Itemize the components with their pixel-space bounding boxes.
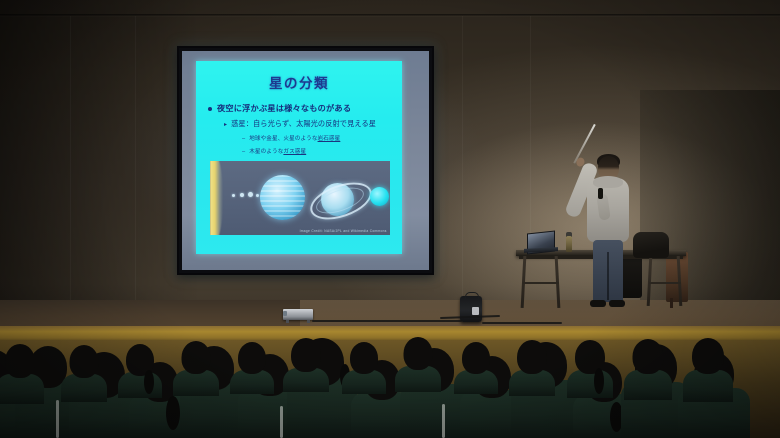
wall-panel-seam xyxy=(530,16,531,256)
projector-light-spill: 星の分類 夜空に浮かぶ星は様々なものがある ▸惑星：自ら光らず、太陽光の反射で見… xyxy=(182,51,429,270)
bullet-triangle-icon: ▸ xyxy=(224,121,227,128)
student-uniform xyxy=(0,374,44,404)
student-head xyxy=(633,339,664,374)
student-head xyxy=(350,342,378,374)
cable-reel-socket-icon xyxy=(472,307,479,315)
floor-cable xyxy=(482,322,562,324)
slide-detail-1-term: 岩石惑星 xyxy=(318,136,341,142)
projector-leg xyxy=(286,320,289,323)
slide-detail-2-term: ガス惑星 xyxy=(283,149,306,155)
bullet-dash-icon: – xyxy=(242,136,245,142)
student-uniform xyxy=(624,370,672,400)
slide-detail-2-pre: 木星のような xyxy=(249,149,283,155)
wall-shadow-left xyxy=(0,0,200,330)
slide-detail-1: –地球や金星、火星のような岩石惑星 xyxy=(242,134,340,142)
slide-bullet-main-text: 夜空に浮かぶ星は様々なものがある xyxy=(217,104,351,113)
presenter-shoe xyxy=(590,300,606,307)
uranus-icon xyxy=(370,187,389,206)
microphone xyxy=(598,188,603,199)
planet-comparison-image: Image Credit: NASA/JPL and Wikimedia Com… xyxy=(210,161,390,235)
student-ponytail xyxy=(144,370,154,394)
mars-icon xyxy=(256,194,259,197)
cable-reel-handle xyxy=(465,292,479,299)
jupiter-icon xyxy=(260,175,305,220)
backpack xyxy=(633,232,669,258)
presenter-leg-split xyxy=(607,252,609,300)
student-ponytail xyxy=(166,396,180,430)
slide-detail-2: –木星のようなガス惑星 xyxy=(242,147,306,155)
slide-bullet-main: 夜空に浮かぶ星は様々なものがある xyxy=(208,102,351,114)
chair-leg xyxy=(670,298,673,308)
student-head xyxy=(291,338,321,372)
slide-bullet-sub: ▸惑星：自ら光らず、太陽光の反射で見える星 xyxy=(224,119,376,129)
venus-icon xyxy=(240,193,244,197)
saturn-icon xyxy=(310,171,368,225)
wall-panel-seam xyxy=(70,16,71,316)
student-head xyxy=(517,340,547,374)
cable-reel-drum xyxy=(460,296,482,322)
student-head xyxy=(692,338,724,374)
wall-panel-seam xyxy=(135,16,136,316)
student-ponytail xyxy=(594,368,604,394)
table-brace xyxy=(523,282,559,284)
projection-screen: 星の分類 夜空に浮かぶ星は様々なものがある ▸惑星：自ら光らず、太陽光の反射で見… xyxy=(177,46,434,275)
uniform-stripe xyxy=(56,400,59,438)
uniform-stripe xyxy=(280,406,283,438)
student-head xyxy=(404,337,433,370)
slide-detail-1-pre: 地球や金星、火星のような xyxy=(249,136,317,142)
student-head xyxy=(5,344,35,378)
slide-bullet-sub-text: 惑星：自ら光らず、太陽光の反射で見える星 xyxy=(231,119,376,128)
student-head xyxy=(462,342,490,374)
wall-panel-seam xyxy=(462,16,463,306)
student-uniform xyxy=(61,374,107,402)
mercury-icon xyxy=(232,194,235,197)
bullet-dash-icon: – xyxy=(242,149,245,155)
table-brace xyxy=(649,282,681,284)
uniform-stripe xyxy=(442,404,445,438)
audience xyxy=(0,330,780,438)
projector-lens-icon xyxy=(283,311,287,316)
student-head xyxy=(238,342,266,374)
student-head xyxy=(70,345,99,378)
presentation-slide: 星の分類 夜空に浮かぶ星は様々なものがある ▸惑星：自ら光らず、太陽光の反射で見… xyxy=(196,61,402,254)
stage-curtain-right xyxy=(640,90,780,330)
presenter xyxy=(578,156,638,311)
projector-leg xyxy=(307,320,310,323)
presenter-hood xyxy=(593,176,623,188)
slide-title: 星の分類 xyxy=(196,72,402,92)
student-uniform xyxy=(683,370,733,402)
sun-limb-icon xyxy=(210,161,223,235)
floor-cable xyxy=(312,320,462,322)
projector xyxy=(283,309,313,320)
student-uniform xyxy=(567,370,613,398)
water-bottle xyxy=(566,236,572,252)
presenter-shoe xyxy=(609,300,625,307)
earth-icon xyxy=(248,192,253,197)
bullet-dot-icon xyxy=(208,107,212,111)
image-credit: Image Credit: NASA/JPL and Wikimedia Com… xyxy=(300,229,387,233)
student-head xyxy=(182,341,211,374)
auditorium-photo: 星の分類 夜空に浮かぶ星は様々なものがある ▸惑星：自ら光らず、太陽光の反射で見… xyxy=(0,0,780,438)
